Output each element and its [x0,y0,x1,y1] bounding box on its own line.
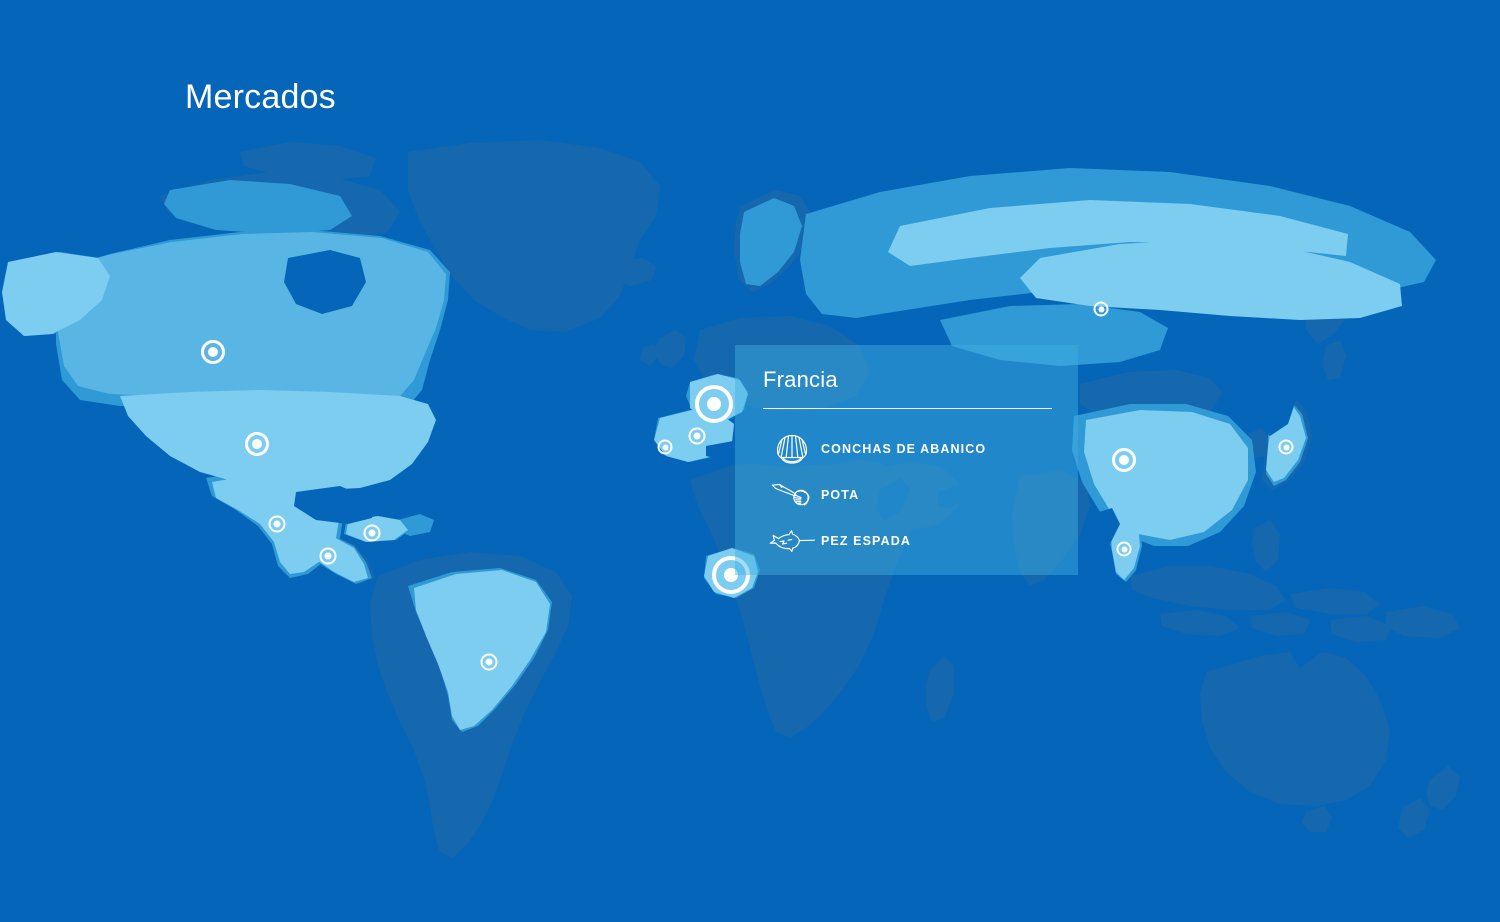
world-map-visualization: Mercados Francia CONCHAS DE ABANICO [0,0,1500,922]
species-label: POTA [821,488,859,502]
species-label: CONCHAS DE ABANICO [821,442,986,456]
marker-dot [694,433,701,440]
marker-spain[interactable] [689,428,706,445]
marker-dot [274,521,281,528]
marker-dot [1119,455,1129,465]
marker-russia[interactable] [1094,302,1109,317]
marker-dot [369,530,376,537]
marker-dot [252,439,262,449]
marker-dot [1121,546,1127,552]
species-row[interactable]: PEZ ESPADA [763,518,1052,564]
marker-dot [486,659,493,666]
swordfish-icon [763,529,821,553]
marker-united-states[interactable] [245,432,269,456]
species-list: CONCHAS DE ABANICO POTA PEZ ESPADA [763,426,1052,564]
marker-dot [707,397,721,411]
squid-icon [763,482,821,508]
species-row[interactable]: CONCHAS DE ABANICO [763,426,1052,472]
species-label: PEZ ESPADA [821,534,911,548]
marker-cuba[interactable] [364,525,381,542]
marker-canada[interactable] [201,340,225,364]
marker-dot [662,444,668,450]
marker-china[interactable] [1112,448,1136,472]
country-info-panel[interactable]: Francia CONCHAS DE ABANICO P [735,345,1078,575]
marker-mexico[interactable] [269,516,286,533]
panel-divider [763,408,1052,409]
page-title: Mercados [185,78,336,117]
species-row[interactable]: POTA [763,472,1052,518]
marker-brazil[interactable] [481,654,498,671]
marker-dot [325,553,332,560]
panel-country-title: Francia [763,369,1052,391]
scallop-shell-icon [763,433,821,465]
marker-thailand[interactable] [1117,542,1132,557]
marker-dot [208,347,218,357]
marker-france[interactable] [695,385,733,423]
marker-central-america[interactable] [320,548,337,565]
marker-portugal[interactable] [658,440,673,455]
marker-japan[interactable] [1279,440,1294,455]
marker-dot [1283,444,1289,450]
marker-dot [1098,306,1104,312]
